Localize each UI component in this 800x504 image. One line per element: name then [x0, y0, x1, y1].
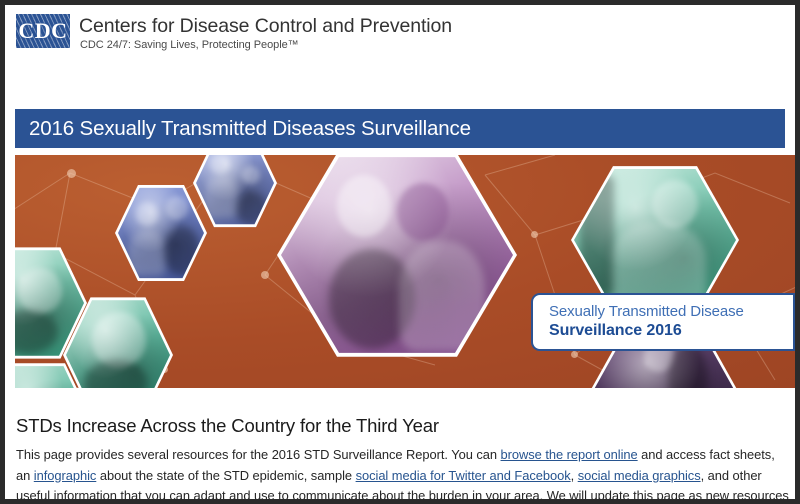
tile-figure: [652, 180, 698, 228]
network-node: [531, 231, 538, 238]
tile-figure: [210, 155, 230, 174]
network-node: [261, 271, 269, 279]
infographic-link[interactable]: infographic: [34, 468, 97, 483]
tile-figure: [337, 175, 391, 237]
hero-banner-image: [15, 155, 795, 388]
tile-figure: [136, 202, 158, 226]
tile-figure: [204, 176, 238, 218]
hero-caption-line1: Sexually Transmitted Disease: [549, 303, 793, 321]
tile-figure: [166, 196, 188, 220]
tile-figure: [18, 268, 62, 314]
paragraph-text-segment: ,: [571, 468, 578, 483]
cdc-logo-text: CDC: [16, 14, 70, 48]
cdc-tagline: CDC 24/7: Saving Lives, Protecting Peopl…: [80, 39, 299, 51]
tile-figure: [128, 230, 166, 276]
cdc-header: CDC Centers for Disease Control and Prev…: [5, 5, 795, 63]
social-media-twitter-facebook-link[interactable]: social media for Twitter and Facebook: [356, 468, 571, 483]
paragraph-text-segment: This page provides several resources for…: [16, 447, 501, 462]
page-frame: CDC Centers for Disease Control and Prev…: [0, 0, 800, 504]
browse-report-online-link[interactable]: browse the report online: [501, 447, 638, 462]
tile-figure: [397, 183, 449, 241]
cdc-agency-title: Centers for Disease Control and Preventi…: [79, 15, 452, 38]
article-paragraph: This page provides several resources for…: [16, 445, 792, 504]
network-node: [67, 169, 76, 178]
tile-figure: [242, 166, 260, 184]
network-node: [571, 351, 578, 358]
article-heading: STDs Increase Across the Country for the…: [16, 415, 439, 437]
page-title-banner: 2016 Sexually Transmitted Diseases Surve…: [15, 109, 785, 148]
cdc-logo[interactable]: CDC: [16, 14, 70, 48]
social-media-graphics-link[interactable]: social media graphics: [578, 468, 701, 483]
paragraph-text-segment: about the state of the STD epidemic, sam…: [96, 468, 355, 483]
hero-caption-box: Sexually Transmitted Disease Surveillanc…: [531, 293, 795, 351]
page-title: 2016 Sexually Transmitted Diseases Surve…: [15, 117, 471, 141]
hero-caption-line2: Surveillance 2016: [549, 321, 793, 340]
